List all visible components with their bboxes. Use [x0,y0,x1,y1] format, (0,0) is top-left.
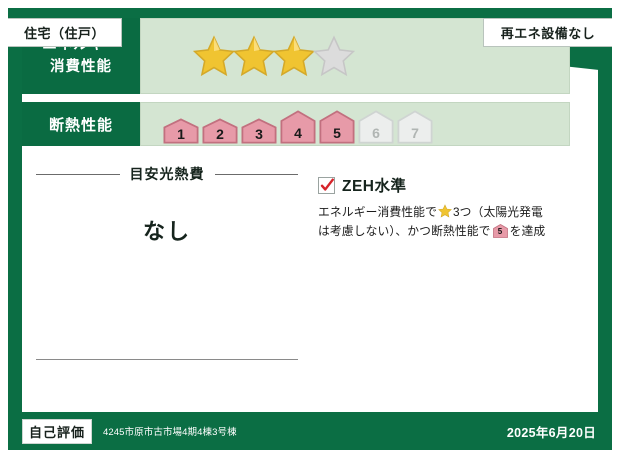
mini-star-icon [438,204,452,218]
mini-house-icon: 5 [493,224,508,238]
heading-rule-left [36,174,120,175]
row-insulation-performance: 断熱性能 1234567 [22,102,570,146]
insulation-house-list: 1234567 [163,101,433,145]
badge-renewable-energy-label: 再エネ設備なし [501,23,596,42]
insulation-level-house: 4 [280,125,316,145]
insulation-level-house: 6 [358,125,394,145]
utility-cost-panel: 目安光熱費 なし [22,158,312,408]
insulation-level-house: 2 [202,126,238,145]
insulation-level-number: 5 [333,125,341,145]
footer-date: 2025年6月20日 [507,422,596,441]
badge-renewable-energy: 再エネ設備なし [483,18,612,47]
star-filled-icon [273,35,315,77]
badge-building-type: 住宅（住戸） [8,18,122,47]
insulation-level-number: 2 [216,126,224,145]
insulation-level-house: 3 [241,126,277,145]
insulation-level-number: 6 [372,125,380,145]
zeh-panel: ZEH水準 エネルギー消費性能で3つ（太陽光発電 は考慮しない）、かつ断熱性能で… [312,158,598,408]
insulation-level-number: 1 [177,126,185,145]
footer-evaluation-badge: 自己評価 [22,419,92,444]
utility-cost-heading: 目安光熱費 [36,164,298,184]
insulation-scale: 1234567 [140,102,570,146]
zeh-desc-star-count: 3つ（太陽光発電 [453,205,543,219]
footer-evaluation-label: 自己評価 [29,422,85,441]
utility-cost-heading-text: 目安光熱費 [120,164,215,184]
utility-cost-bottom-rule [36,359,298,360]
footer-bar: 自己評価 4245市原市古市場4期4棟3号棟 2025年6月20日 [8,412,612,450]
zeh-description: エネルギー消費性能で3つ（太陽光発電 は考慮しない）、かつ断熱性能で5を達成 [318,203,582,241]
mini-house-level: 5 [493,224,508,238]
insulation-level-house: 5 [319,125,355,145]
zeh-desc-part2: は考慮しない）、かつ断熱性能で [318,224,491,238]
zeh-desc-part1: エネルギー消費性能で [318,205,437,219]
check-icon [320,178,335,193]
star-empty-icon [313,35,355,77]
row-energy-label-line2: 消費性能 [50,56,112,78]
row-insulation-label-text: 断熱性能 [49,114,113,135]
energy-label-card: 住宅（住戸） 再エネ設備なし 建築物省エネ法に基づく 省エネ性能ラベル エネルギ… [8,8,612,450]
row-insulation-label: 断熱性能 [22,102,140,146]
zeh-desc-part3: を達成 [510,224,546,238]
lower-section: 目安光熱費 なし ZEH水準 エネルギー消費性能で3つ（太陽光発電 は考慮しない… [22,158,598,408]
star-filled-icon [193,35,235,77]
insulation-level-number: 7 [411,125,419,145]
insulation-level-number: 3 [255,126,263,145]
insulation-level-house: 1 [163,126,199,145]
zeh-checkbox[interactable] [318,177,335,194]
zeh-title: ZEH水準 [342,174,407,196]
star-filled-icon [233,35,275,77]
insulation-level-house: 7 [397,125,433,145]
heading-rule-right [215,174,299,175]
badge-building-type-label: 住宅（住戸） [24,23,105,42]
zeh-heading: ZEH水準 [318,174,582,196]
utility-cost-value: なし [36,214,298,246]
footer-address: 4245市原市古市場4期4棟3号棟 [103,424,237,438]
insulation-level-number: 4 [294,125,302,145]
